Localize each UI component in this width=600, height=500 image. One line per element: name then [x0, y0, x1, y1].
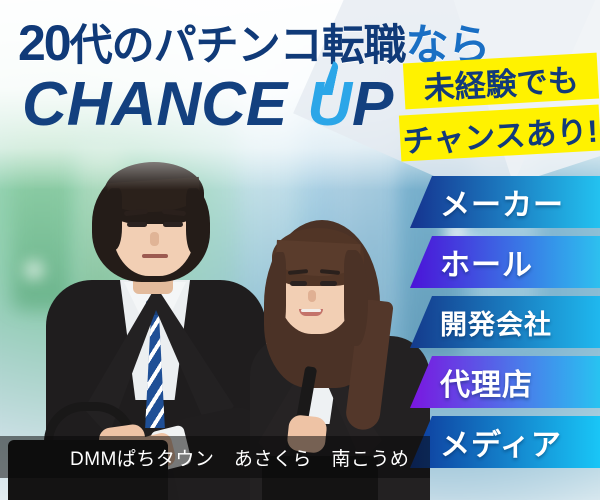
- category-button-list: メーカー ホール 開発会社 代理店 メディア: [0, 176, 600, 476]
- logo-word-chance: CHANCE: [22, 70, 287, 139]
- category-label: 開発会社: [440, 303, 552, 342]
- credit-text: DMMぱちタウン あさくら 南こうめ: [70, 444, 409, 471]
- chance-up-logo: CHANCEUP: [22, 74, 393, 136]
- category-label: ホール: [440, 240, 533, 284]
- headline-number: 20: [18, 15, 70, 71]
- logo-letter-u: U: [307, 74, 352, 136]
- credit-bar: DMMぱちタウン あさくら 南こうめ: [0, 436, 430, 478]
- category-button-media[interactable]: メディア: [410, 416, 600, 468]
- category-button-hall[interactable]: ホール: [410, 236, 600, 288]
- badge-1-label: 未経験でも: [422, 54, 579, 108]
- headline: 20代のパチンコ転職なら: [18, 18, 490, 68]
- category-label: メディア: [440, 420, 562, 464]
- category-label: メーカー: [440, 180, 564, 224]
- logo-letter-p: P: [352, 70, 393, 139]
- category-label: 代理店: [440, 360, 533, 404]
- category-button-agency[interactable]: 代理店: [410, 356, 600, 408]
- headline-main: 代のパチンコ転職: [70, 22, 406, 70]
- advertisement-banner[interactable]: 20代のパチンコ転職なら CHANCEUP 未経験でも チャンスあり! メーカー…: [0, 0, 600, 500]
- category-button-maker[interactable]: メーカー: [410, 176, 600, 228]
- category-button-development-company[interactable]: 開発会社: [410, 296, 600, 348]
